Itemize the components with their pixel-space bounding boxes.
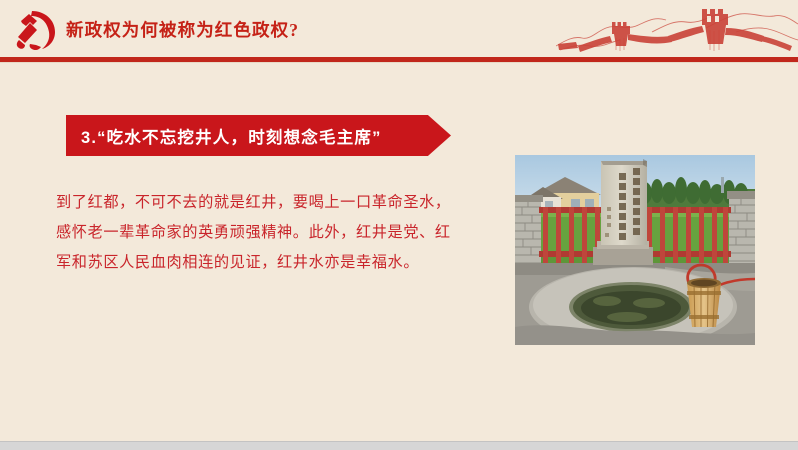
red-well-monument-photo [515, 155, 755, 345]
section-heading-label: 3.“吃水不忘挖井人，时刻想念毛主席” [66, 124, 382, 148]
slide-root: 新政权为何被称为红色政权? [0, 0, 798, 450]
great-wall-illustration-icon [556, 2, 798, 58]
slide-header: 新政权为何被称为红色政权? [0, 0, 798, 62]
page-title: 新政权为何被称为红色政权? [66, 18, 299, 42]
body-line-3: 军和苏区人民血肉相连的见证，红井水亦是幸福水。 [56, 248, 486, 278]
slide-bottom-strip [0, 441, 798, 450]
section-heading-banner: 3.“吃水不忘挖井人，时刻想念毛主席” [66, 115, 451, 156]
body-paragraph: 到了红都，不可不去的就是红井，要喝上一口革命圣水， 感怀老一辈革命家的英勇顽强精… [56, 188, 486, 278]
header-divider-highlight [0, 62, 798, 63]
slide-bottom-edge-line [0, 441, 798, 442]
body-line-2: 感怀老一辈革命家的英勇顽强精神。此外，红井是党、红 [56, 218, 486, 248]
slide-canvas: 新政权为何被称为红色政权? [0, 0, 798, 441]
body-line-1: 到了红都，不可不去的就是红井，要喝上一口革命圣水， [56, 188, 486, 218]
cpc-hammer-sickle-icon [10, 7, 60, 53]
